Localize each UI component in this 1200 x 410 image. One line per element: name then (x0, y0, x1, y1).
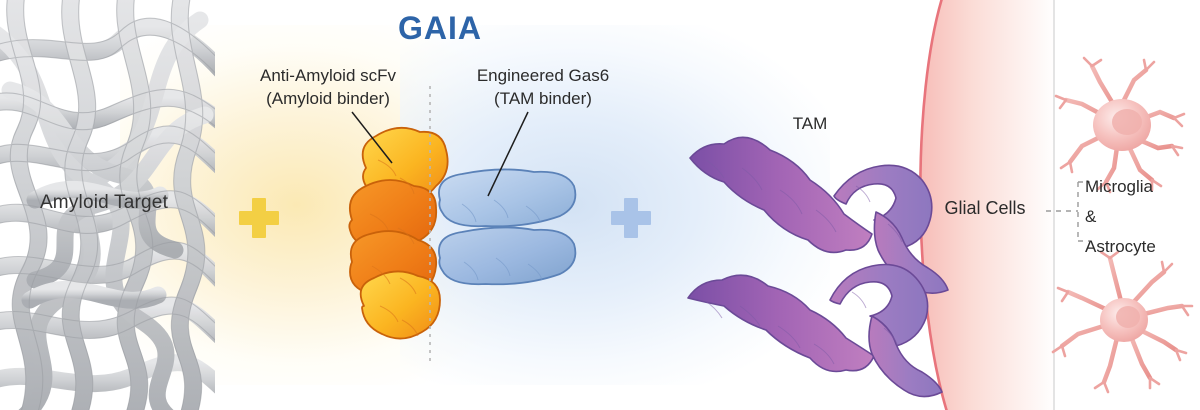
gaia-mechanism-figure: Amyloid Target GAIA Anti-Amyloid scFv (A… (0, 0, 1200, 410)
glial-cells-label: Glial Cells (925, 198, 1045, 219)
astrocyte-cell-icon (1053, 252, 1192, 392)
anti-amyloid-scfv-domains (349, 128, 447, 339)
tam-receptor-top (690, 137, 948, 293)
tam-receptor-bottom (688, 265, 942, 397)
cell-types-bracket-label: Microglia & Astrocyte (1085, 172, 1156, 262)
ampersand-label: & (1085, 202, 1156, 232)
astrocyte-label: Astrocyte (1085, 232, 1156, 262)
microglia-label: Microglia (1085, 172, 1156, 202)
engineered-gas6-domains (439, 169, 575, 284)
